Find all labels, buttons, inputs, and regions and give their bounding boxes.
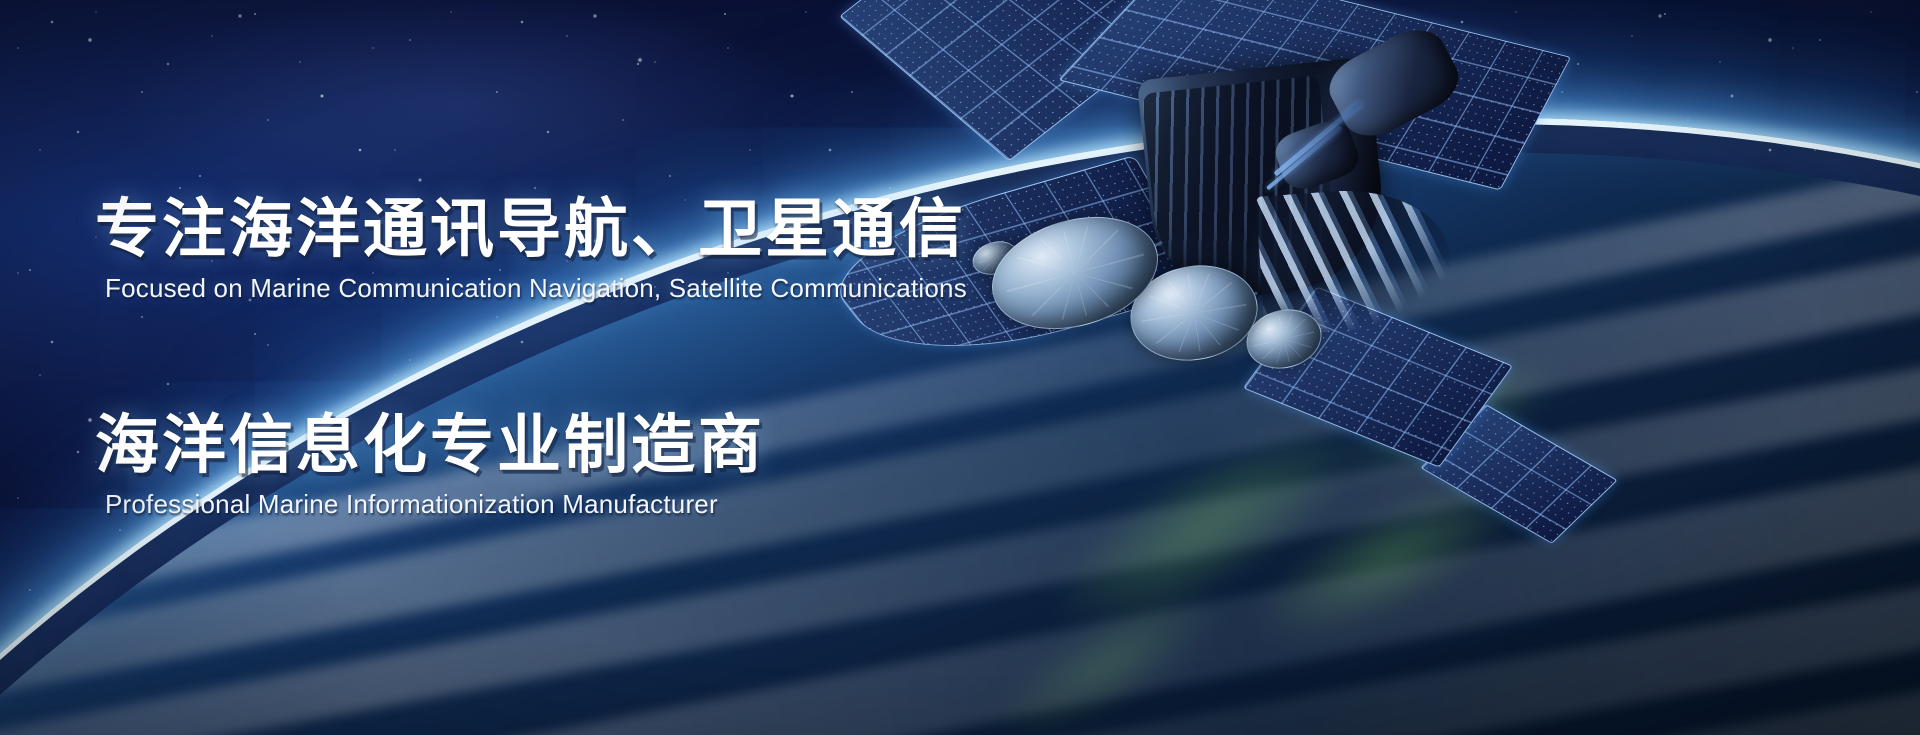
headline-block-primary: 专注海洋通讯导航、卫星通信 Focused on Marine Communic… xyxy=(95,196,967,304)
headline-english-primary: Focused on Marine Communication Navigati… xyxy=(105,273,967,304)
hero-banner: 专注海洋通讯导航、卫星通信 Focused on Marine Communic… xyxy=(0,0,1920,735)
headline-chinese-primary: 专注海洋通讯导航、卫星通信 xyxy=(95,196,967,263)
headline-chinese-secondary: 海洋信息化专业制造商 xyxy=(95,412,765,479)
headline-block-secondary: 海洋信息化专业制造商 Professional Marine Informati… xyxy=(95,412,765,520)
communications-satellite xyxy=(960,0,1580,400)
headline-english-secondary: Professional Marine Informationization M… xyxy=(105,489,765,520)
